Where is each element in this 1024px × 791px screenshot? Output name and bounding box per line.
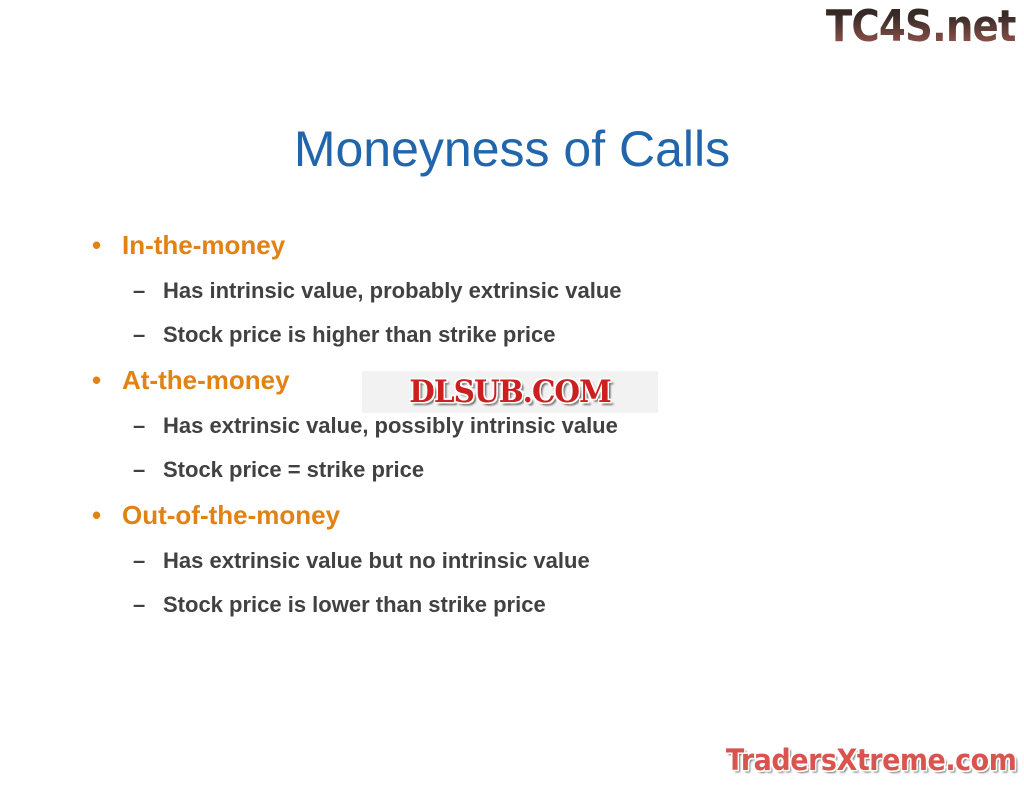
dash-marker-icon: – — [133, 269, 145, 313]
sub-bullet-label: Stock price = strike price — [163, 457, 424, 482]
sub-bullet-item: – Has extrinsic value but no intrinsic v… — [80, 539, 920, 583]
dash-marker-icon: – — [133, 539, 145, 583]
bullet-dot-icon: • — [92, 357, 101, 404]
bullet-dot-icon: • — [92, 222, 101, 269]
dash-marker-icon: – — [133, 448, 145, 492]
sub-bullet-label: Has extrinsic value but no intrinsic val… — [163, 548, 590, 573]
dash-marker-icon: – — [133, 583, 145, 627]
sub-bullet-item: – Stock price is lower than strike price — [80, 583, 920, 627]
sub-bullet-item: – Stock price is higher than strike pric… — [80, 313, 920, 357]
bullet-heading-label: Out-of-the-money — [122, 500, 340, 530]
dlsub-watermark: DLSUB.COM — [362, 371, 658, 413]
bullet-heading-in-the-money: • In-the-money — [80, 222, 920, 269]
sub-bullet-label: Has intrinsic value, probably extrinsic … — [163, 278, 622, 303]
bullet-dot-icon: • — [92, 492, 101, 539]
slide-body-list: • In-the-money – Has intrinsic value, pr… — [80, 222, 920, 627]
tc4s-watermark: TC4S.net — [826, 2, 1016, 52]
sub-bullet-label: Has extrinsic value, possibly intrinsic … — [163, 413, 618, 438]
sub-bullet-label: Stock price is higher than strike price — [163, 322, 555, 347]
slide-title: Moneyness of Calls — [0, 118, 1024, 180]
dash-marker-icon: – — [133, 313, 145, 357]
sub-bullet-item: – Stock price = strike price — [80, 448, 920, 492]
dlsub-watermark-label: DLSUB.COM — [409, 375, 610, 409]
bullet-heading-label: At-the-money — [122, 365, 290, 395]
sub-bullet-item: – Has intrinsic value, probably extrinsi… — [80, 269, 920, 313]
bullet-heading-label: In-the-money — [122, 230, 285, 260]
bullet-heading-out-of-the-money: • Out-of-the-money — [80, 492, 920, 539]
presentation-slide: TC4S.net Moneyness of Calls • In-the-mon… — [0, 0, 1024, 791]
dash-marker-icon: – — [133, 404, 145, 448]
bullet-group-out-of-the-money: • Out-of-the-money – Has extrinsic value… — [80, 492, 920, 627]
tradersxtreme-watermark: TradersXtreme.com — [725, 743, 1016, 777]
sub-bullet-label: Stock price is lower than strike price — [163, 592, 546, 617]
bullet-group-in-the-money: • In-the-money – Has intrinsic value, pr… — [80, 222, 920, 357]
